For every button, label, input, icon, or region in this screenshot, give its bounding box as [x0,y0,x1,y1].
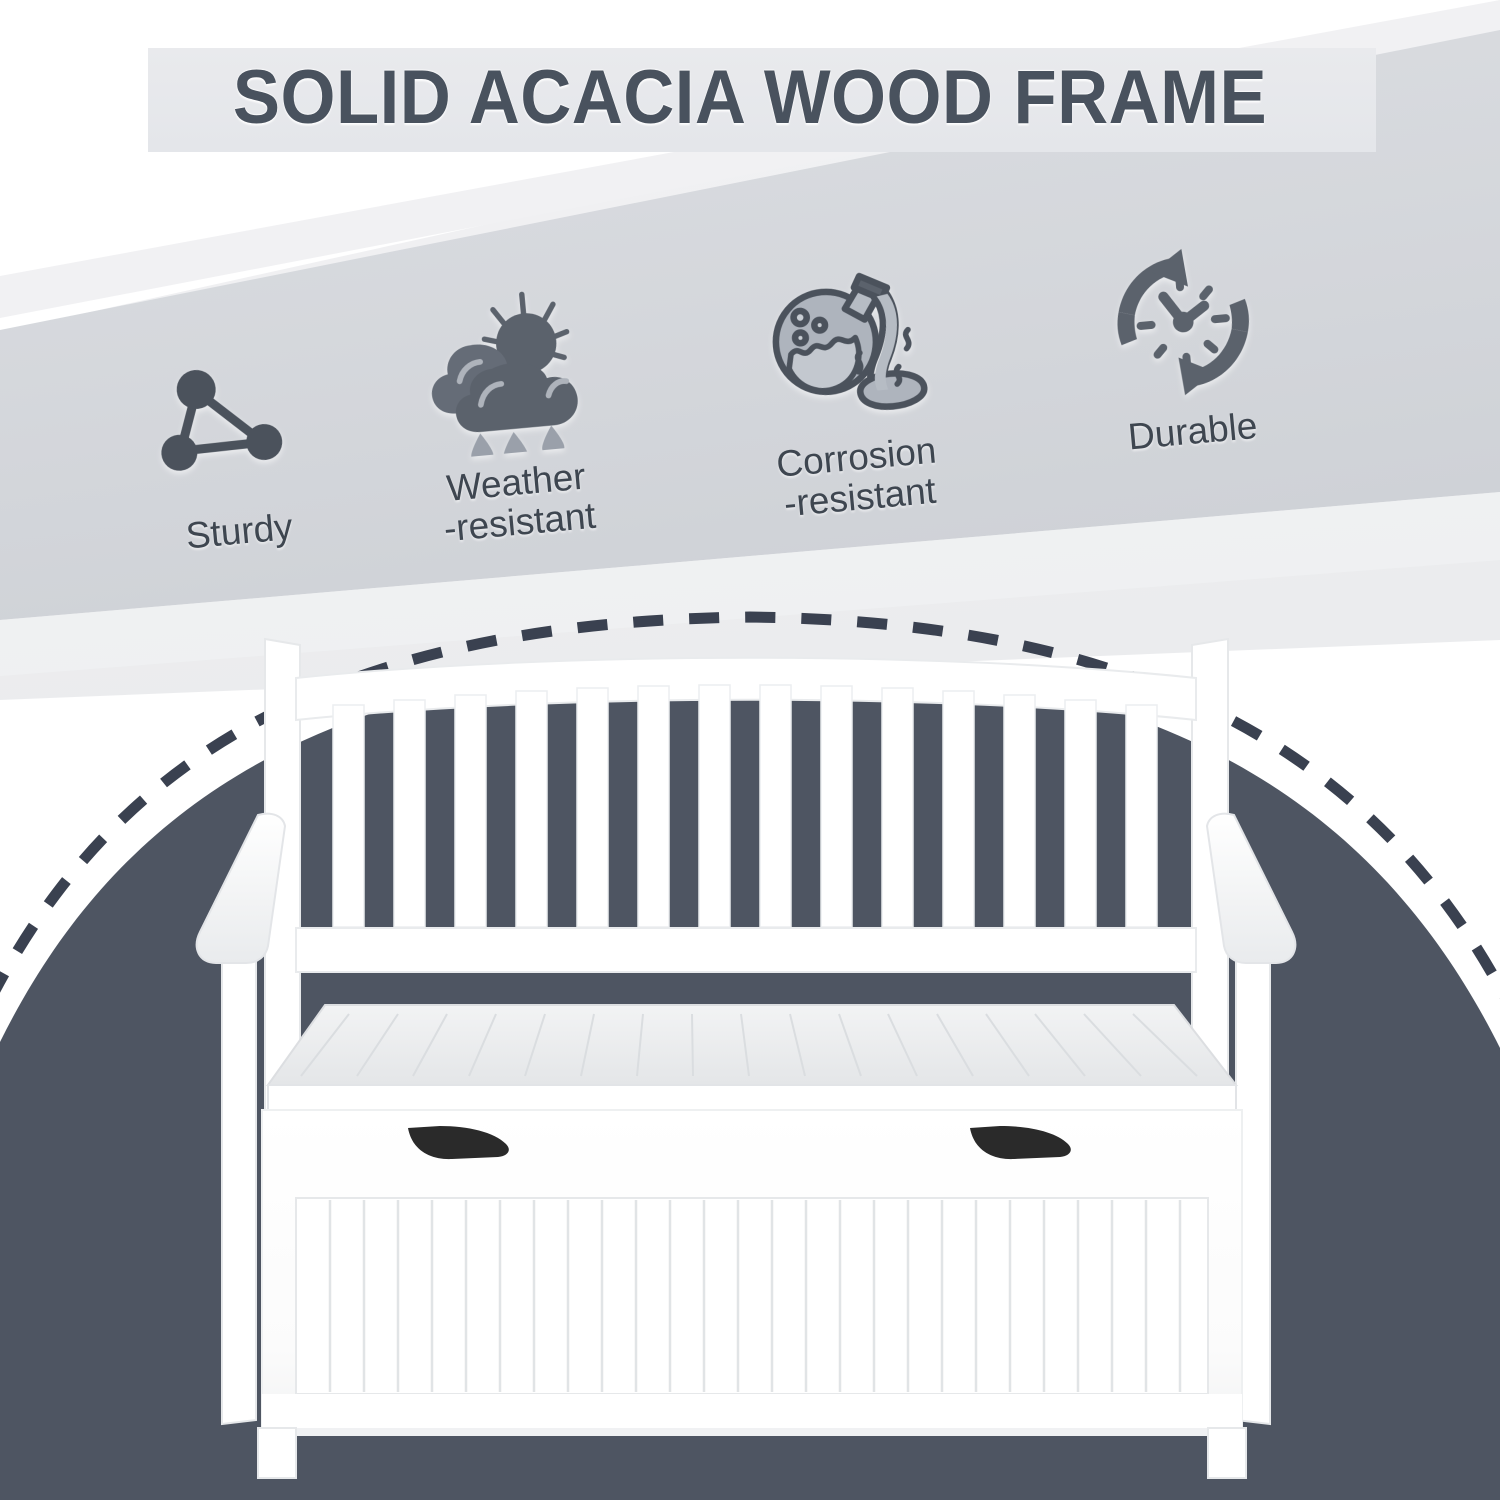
feature-label: Durable [1126,406,1259,458]
arm-support-left [222,934,256,1424]
durable-clock-refresh-icon [1093,235,1272,409]
seat-front-lip [268,1085,1236,1110]
weather-cloud-sun-rain-icon [411,281,600,461]
feature-label: Sturdy [184,507,294,556]
feature-item-durable: Durable [1046,231,1324,464]
leg-front-left [258,1428,296,1478]
lower-back-rail [296,928,1196,972]
box-bottom-skirt [262,1394,1242,1428]
box-bottom-edge [262,1428,1242,1436]
feature-label: Corrosion -resistant [775,431,942,525]
feature-list: Sturdy [0,0,1500,700]
sturdy-triangle-icon [148,346,311,509]
feature-item-corrosion: Corrosion -resistant [709,247,991,529]
feature-item-weather: Weather -resistant [369,277,651,554]
infographic-canvas: SOLID ACACIA WOOD FRAME [0,0,1500,1500]
leg-front-right [1208,1428,1246,1478]
corrosion-flask-acid-icon [751,251,941,436]
feature-label: Weather -resistant [439,456,598,549]
seat-lid [268,1005,1236,1085]
feature-item-sturdy: Sturdy [93,341,370,564]
